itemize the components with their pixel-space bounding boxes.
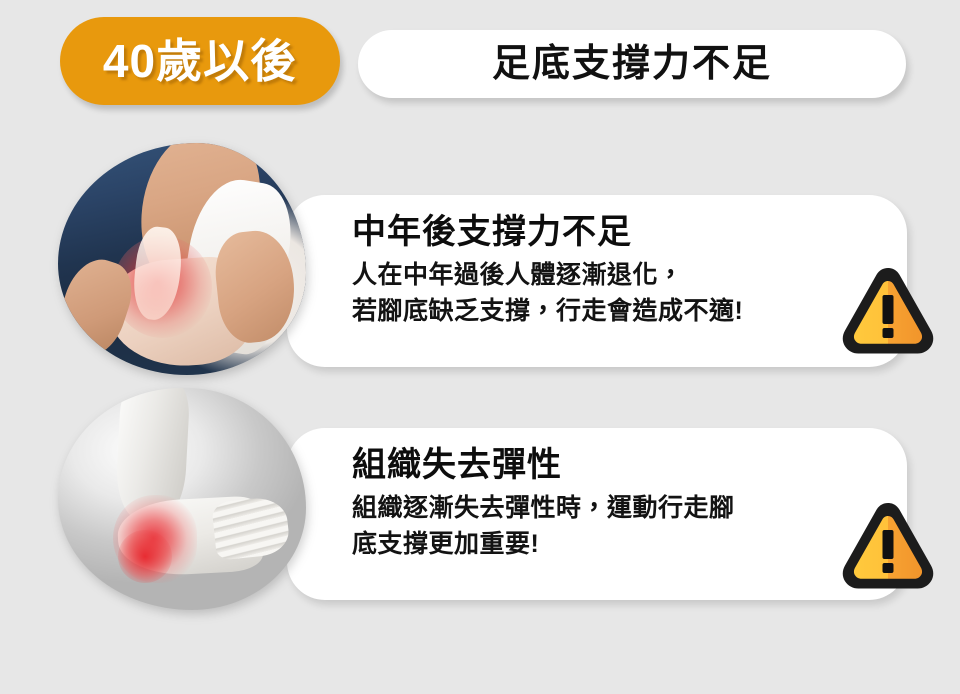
ankle-pain-photo xyxy=(58,143,306,375)
warning-triangle-icon xyxy=(836,497,940,595)
card-2-body: 組織失去彈性 組織逐漸失去彈性時，運動行走腳 底支撐更加重要! xyxy=(352,445,877,562)
age-badge-label: 40歲以後 xyxy=(103,38,297,84)
photo-2-heel-highlight xyxy=(118,530,173,583)
card-1-line-2: 若腳底缺乏支撐，行走會造成不適! xyxy=(352,294,877,330)
info-card-2: 組織失去彈性 組織逐漸失去彈性時，運動行走腳 底支撐更加重要! xyxy=(287,428,907,600)
age-badge: 40歲以後 xyxy=(60,17,340,105)
warning-triangle-icon xyxy=(836,262,940,360)
card-1-line-1: 人在中年過後人體逐漸退化， xyxy=(352,258,877,294)
foot-anatomy-illustration xyxy=(58,388,306,610)
card-1-text: 人在中年過後人體逐漸退化， 若腳底缺乏支撐，行走會造成不適! xyxy=(352,258,877,329)
info-card-1: 中年後支撐力不足 人在中年過後人體逐漸退化， 若腳底缺乏支撐，行走會造成不適! xyxy=(287,195,907,367)
card-2-line-2: 底支撐更加重要! xyxy=(352,527,877,563)
poster-root: 40歲以後 足底支撐力不足 中年後支撐力不足 人在中年過後人體逐漸退化， 若腳底… xyxy=(0,0,960,694)
card-2-text: 組織逐漸失去彈性時，運動行走腳 底支撐更加重要! xyxy=(352,491,877,562)
card-1-body: 中年後支撐力不足 人在中年過後人體逐漸退化， 若腳底缺乏支撐，行走會造成不適! xyxy=(352,212,877,329)
header: 40歲以後 足底支撐力不足 xyxy=(0,0,960,130)
page-title-pill: 足底支撐力不足 xyxy=(358,30,906,98)
page-title: 足底支撐力不足 xyxy=(492,45,772,83)
card-2-title: 組織失去彈性 xyxy=(352,445,877,485)
card-1-title: 中年後支撐力不足 xyxy=(352,212,877,252)
card-2-line-1: 組織逐漸失去彈性時，運動行走腳 xyxy=(352,491,877,527)
